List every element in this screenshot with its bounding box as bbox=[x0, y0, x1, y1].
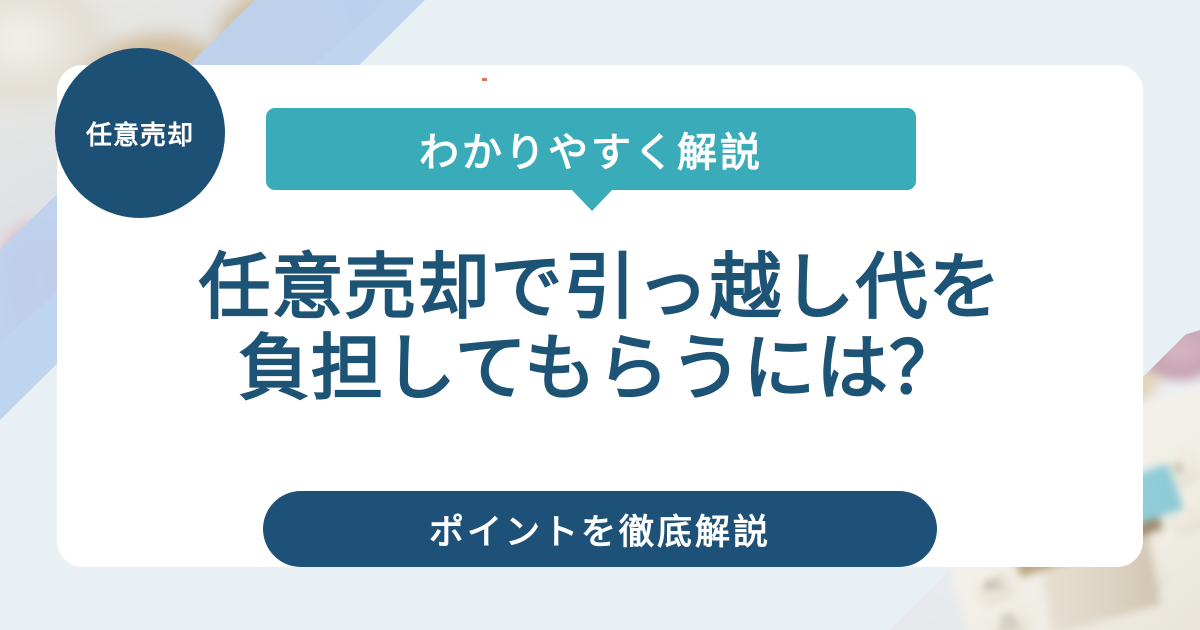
category-badge[interactable]: 任意売却 bbox=[55, 48, 225, 218]
subtitle-ribbon-label: わかりやすく解説 bbox=[419, 120, 763, 178]
subtitle-ribbon-tail-icon bbox=[571, 189, 613, 211]
calculator-key-on-cce: ON C/CE bbox=[986, 603, 1029, 630]
page-title: 任意売却で引っ越し代を 負担してもらうには？ bbox=[57, 248, 1143, 409]
og-image-canvas: MU MC +/- AC ON C/CE 7 4 1 00 6 5 2 0 3 … bbox=[0, 0, 1200, 630]
cta-pill-label: ポイントを徹底解説 bbox=[429, 504, 771, 555]
page-title-line-1: 任意売却で引っ越し代を bbox=[57, 248, 1143, 329]
red-speck-artifact bbox=[482, 78, 487, 81]
calculator-key-3: 3 bbox=[1156, 449, 1199, 489]
cta-pill[interactable]: ポイントを徹底解説 bbox=[263, 491, 937, 567]
category-badge-label: 任意売却 bbox=[86, 115, 194, 152]
calculator-key-ac: AC bbox=[972, 565, 1015, 605]
page-title-line-2: 負担してもらうには？ bbox=[57, 329, 1143, 410]
calculator-key-dot: · bbox=[1168, 493, 1200, 533]
calculator-key-00: 00 bbox=[1052, 579, 1095, 619]
subtitle-ribbon: わかりやすく解説 bbox=[266, 108, 916, 190]
